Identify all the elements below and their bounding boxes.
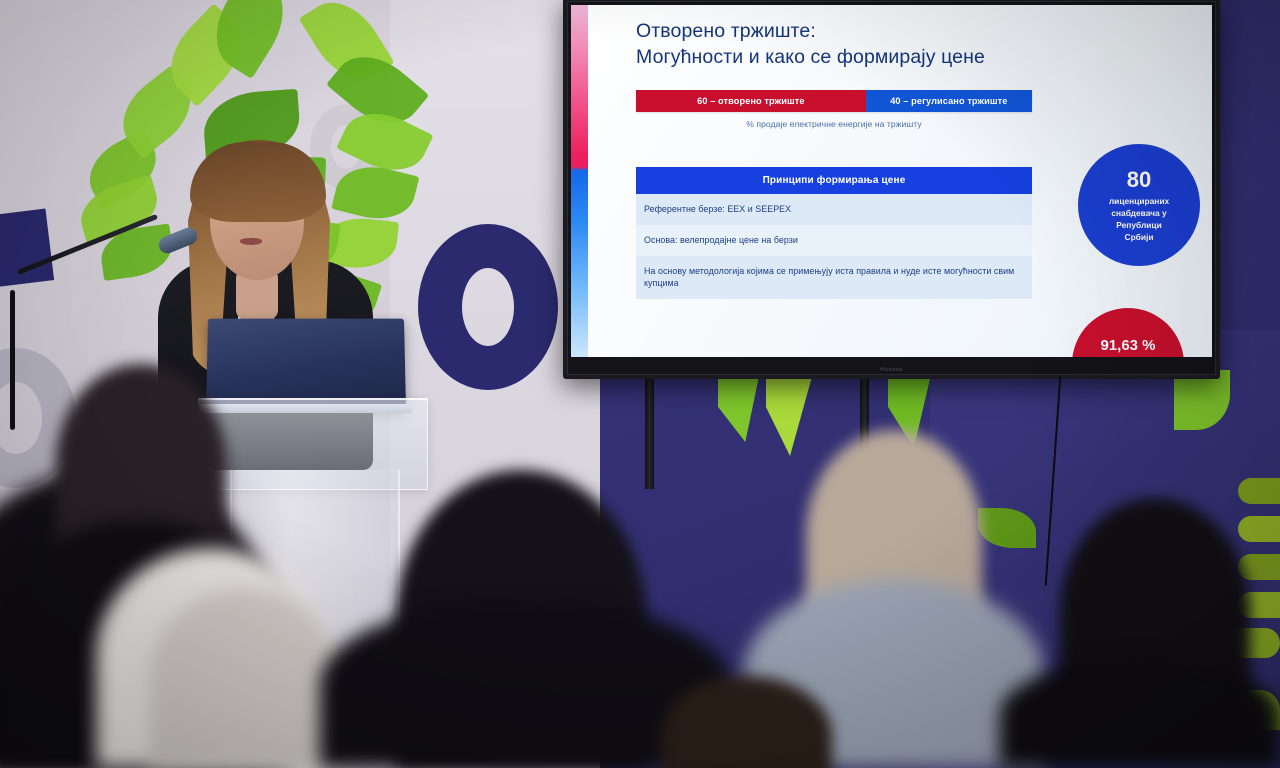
- slide-right-column: 80 лиценцираних снабдевача у Републици С…: [1052, 90, 1194, 299]
- principles-table-header: Принципи формирања цене: [636, 167, 1032, 194]
- principles-table-row: На основу методологија којима се примењу…: [636, 256, 1032, 299]
- market-split-bar-caption: % продаје електричне енергије на тржишту: [636, 119, 1032, 129]
- tv-stand-leg-left: [645, 379, 654, 489]
- speaker-hair-top: [190, 142, 326, 222]
- principles-table: Принципи формирања цене Референтне берзе…: [636, 167, 1032, 299]
- audience-silhouette: [150, 588, 340, 768]
- presentation-slide: Отворено тржиште: Могућности и како се ф…: [571, 5, 1212, 357]
- stat-caption-suppliers: лиценцираних снабдевача у Републици Срби…: [1109, 196, 1169, 244]
- screenshot-root: Отворено тржиште: Могућности и како се ф…: [0, 0, 1280, 768]
- market-split-segment-regulated: 40 – регулисано тржиште: [866, 90, 1032, 112]
- slide-left-column: 60 – отворено тржиште 40 – регулисано тр…: [636, 90, 1032, 299]
- principles-table-row: Референтне берзе: EEX и SEEPEX: [636, 194, 1032, 225]
- slide-accent-stripe: [571, 5, 588, 357]
- wall-accent-square: [0, 208, 54, 287]
- stat-value-eps-share: 91,63 %: [1100, 337, 1155, 355]
- laptop-screen-back: [206, 319, 406, 411]
- speaker-mouth: [240, 238, 262, 245]
- logo-letter-o-navy: [418, 224, 558, 390]
- stat-circle-suppliers: 80 лиценцираних снабдевача у Републици С…: [1078, 144, 1200, 266]
- audience-silhouette: [1000, 660, 1280, 768]
- television-display: Отворено тржиште: Могућности и како се ф…: [563, 0, 1220, 379]
- slide-title: Отворено тржиште: Могућности и како се ф…: [636, 19, 1194, 70]
- tv-brand-label: Hisense: [567, 367, 1216, 373]
- stat-circle-eps-share: 91,63 % Учешће ЕПС АД на тржишту (јан-ма…: [1072, 308, 1184, 357]
- stat-value-suppliers: 80: [1127, 167, 1151, 193]
- tv-screen: Отворено тржиште: Могућности и како се ф…: [571, 5, 1212, 357]
- microphone-stand: [10, 290, 15, 430]
- principles-table-row: Основа: велепродајне цене на берзи: [636, 225, 1032, 256]
- pattern-bar-right-2: [1238, 516, 1280, 542]
- slide-body: Отворено тржиште: Могућности и како се ф…: [588, 5, 1212, 357]
- market-split-bar: 60 – отворено тржиште 40 – регулисано тр…: [636, 90, 1032, 112]
- market-split-segment-open: 60 – отворено тржиште: [636, 90, 866, 112]
- pattern-bar-right-1: [1238, 478, 1280, 504]
- slide-content-columns: 60 – отворено тржиште 40 – регулисано тр…: [636, 90, 1194, 299]
